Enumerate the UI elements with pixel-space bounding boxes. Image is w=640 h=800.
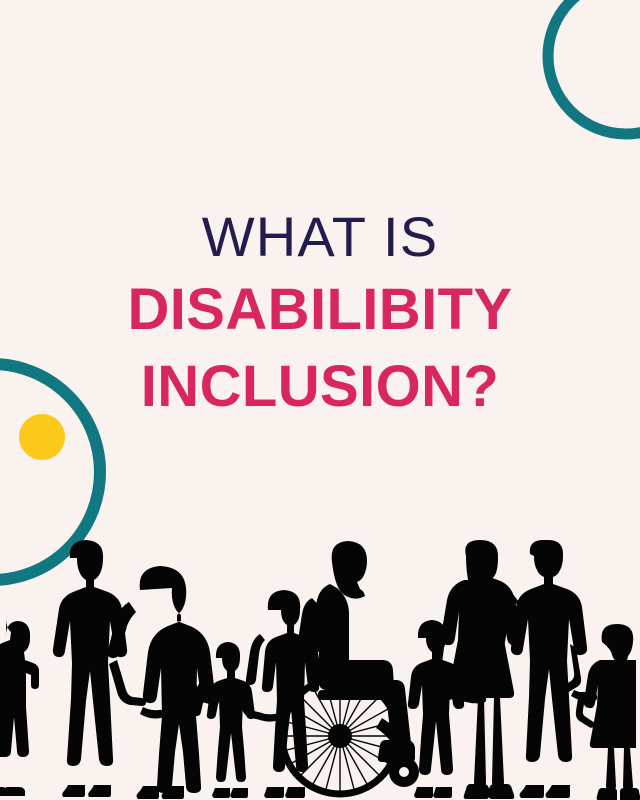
teal-ring-top-right-icon (548, 0, 640, 134)
silhouette-child-far-left (0, 618, 39, 796)
wheelchair-caster-wheel (389, 757, 419, 787)
headline-block: WHAT IS DISABILIBITY INCLUSION? (0, 208, 640, 417)
silhouette-adult-man-left (53, 540, 146, 797)
people-silhouettes (0, 540, 640, 800)
yellow-dot-icon (19, 414, 65, 460)
headline-line-3: INCLUSION? (0, 357, 640, 417)
headline-line-2: DISABILIBITY (0, 280, 640, 340)
poster-canvas: WHAT IS DISABILIBITY INCLUSION? (0, 0, 640, 800)
headline-line-1: WHAT IS (0, 208, 640, 266)
wheelchair-wheel (282, 678, 398, 794)
